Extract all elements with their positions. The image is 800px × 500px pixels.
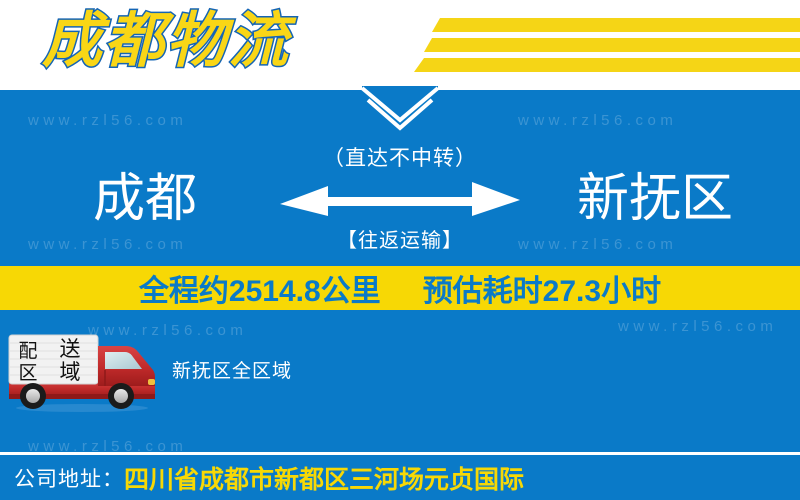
distance-stat: 全程约2514.8公里 xyxy=(139,266,381,310)
delivery-area-section: 配 送 区 域 新抚区全区域 xyxy=(0,326,800,416)
duration-stat: 预估耗时27.3小时 xyxy=(423,266,661,310)
route-section: （直达不中转） 成都 新抚区 【往返运输】 xyxy=(0,132,800,266)
truck-text-3: 区 xyxy=(18,363,37,384)
truck-text-2: 送 xyxy=(60,338,81,361)
logistics-poster: 成都物流 www.rzl56.com www.rzl56.com www.rzl… xyxy=(0,0,800,500)
bidirectional-arrow-icon xyxy=(280,176,520,220)
address-label: 公司地址： xyxy=(14,463,124,493)
destination-city: 新抚区 xyxy=(510,168,800,230)
watermark: www.rzl56.com xyxy=(518,112,677,129)
delivery-truck-icon: 配 送 区 域 xyxy=(6,330,158,414)
return-transport-note: 【往返运输】 xyxy=(0,224,800,253)
watermark: www.rzl56.com xyxy=(28,112,187,129)
address-value: 四川省成都市新都区三河场元贞国际 xyxy=(124,460,524,496)
origin-city: 成都 xyxy=(0,168,290,230)
trip-stats-bar: 全程约2514.8公里 预估耗时27.3小时 xyxy=(0,266,800,310)
brand-logo-text: 成都物流 xyxy=(42,6,290,76)
header-band: 成都物流 xyxy=(0,0,800,86)
footer-address-bar: 公司地址： 四川省成都市新都区三河场元贞国际 xyxy=(0,455,800,500)
truck-text-1: 配 xyxy=(18,341,37,362)
delivery-coverage-label: 新抚区全区域 xyxy=(172,356,292,383)
truck-text-4: 域 xyxy=(60,361,81,384)
